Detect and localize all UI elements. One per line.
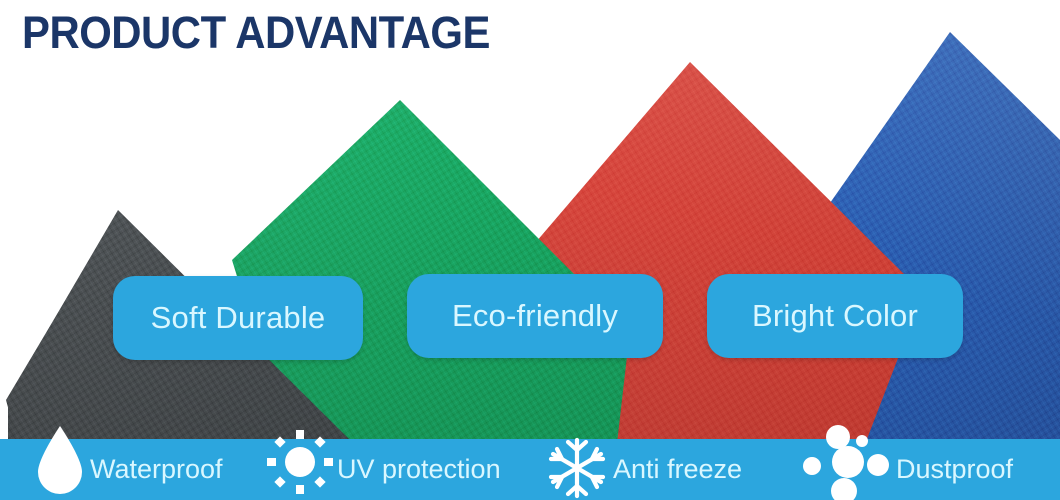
feature-pill-eco-friendly[interactable]: Eco-friendly bbox=[407, 274, 663, 358]
feature-pill-soft-durable[interactable]: Soft Durable bbox=[113, 276, 363, 360]
snowflake-icon-slot bbox=[545, 469, 613, 470]
feature-bar: Waterproof UV protection Anti freeze Dus… bbox=[0, 439, 1060, 500]
feature-item-label: UV protection bbox=[337, 454, 501, 485]
fabric-sheets-artwork bbox=[0, 0, 1060, 500]
feature-item-label: Waterproof bbox=[90, 454, 223, 485]
dust-particles-icon-slot bbox=[800, 469, 896, 470]
feature-item-label: Dustproof bbox=[896, 454, 1013, 485]
page-title: PRODUCT ADVANTAGE bbox=[22, 10, 490, 55]
feature-item-dustproof[interactable]: Dustproof bbox=[800, 439, 1013, 500]
water-drop-icon-slot bbox=[30, 469, 90, 470]
sun-icon-slot bbox=[265, 469, 337, 470]
feature-pill-label: Bright Color bbox=[752, 298, 918, 334]
feature-pill-label: Eco-friendly bbox=[452, 298, 618, 334]
feature-item-waterproof[interactable]: Waterproof bbox=[30, 439, 223, 500]
feature-item-anti-freeze[interactable]: Anti freeze bbox=[545, 439, 742, 500]
product-advantage-banner: PRODUCT ADVANTAGE Soft Durable Eco-frien… bbox=[0, 0, 1060, 500]
feature-pill-label: Soft Durable bbox=[151, 300, 326, 336]
feature-item-uv-protection[interactable]: UV protection bbox=[265, 439, 501, 500]
feature-item-label: Anti freeze bbox=[613, 454, 742, 485]
feature-pill-bright-color[interactable]: Bright Color bbox=[707, 274, 963, 358]
